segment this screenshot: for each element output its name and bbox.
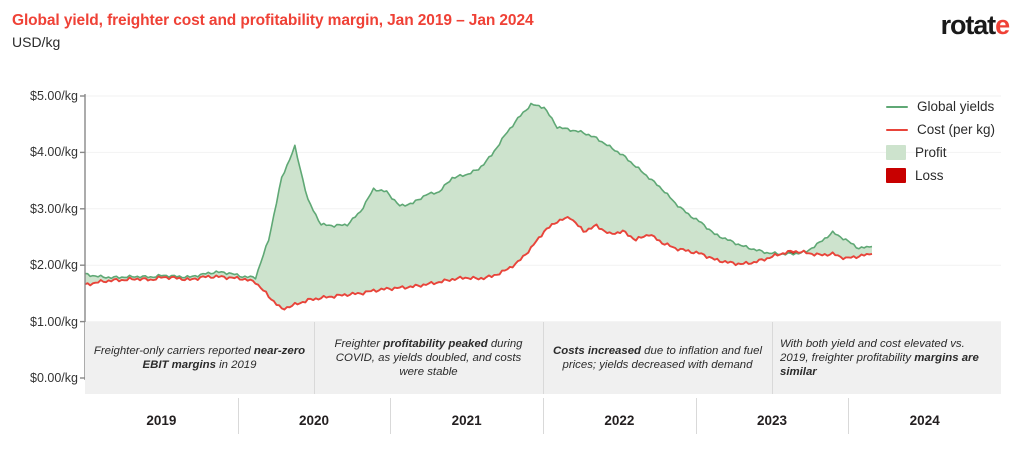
x-tick-label: 2024 bbox=[910, 413, 940, 428]
annotation-fragment: Freighter-only carriers reported bbox=[94, 345, 254, 357]
legend-box-swatch bbox=[886, 145, 906, 160]
x-tick-label: 2019 bbox=[146, 413, 176, 428]
legend-label: Loss bbox=[915, 168, 944, 183]
x-axis-tick: 2020 bbox=[238, 394, 391, 446]
annotation-fragment: in 2019 bbox=[216, 359, 257, 371]
legend-item[interactable]: Profit bbox=[886, 145, 995, 160]
x-axis-divider bbox=[543, 398, 544, 434]
legend-label: Global yields bbox=[917, 99, 994, 114]
x-axis-divider bbox=[848, 398, 849, 434]
chart-page: Global yield, freighter cost and profita… bbox=[0, 0, 1025, 446]
x-axis-tick: 2022 bbox=[543, 394, 696, 446]
annotation-cell: Costs increased due to inflation and fue… bbox=[543, 322, 772, 394]
annotation-text: Freighter profitability peaked during CO… bbox=[322, 337, 535, 380]
legend-item[interactable]: Global yields bbox=[886, 99, 995, 114]
x-tick-label: 2023 bbox=[757, 413, 787, 428]
y-axis-labels: $0.00/kg$1.00/kg$2.00/kg$3.00/kg$4.00/kg… bbox=[6, 0, 78, 446]
annotation-cell: Freighter-only carriers reported near-ze… bbox=[85, 322, 314, 394]
y-tick-label: $1.00/kg bbox=[6, 315, 78, 329]
legend-box-swatch bbox=[886, 168, 906, 183]
x-tick-label: 2022 bbox=[604, 413, 634, 428]
y-tick-label: $0.00/kg bbox=[6, 371, 78, 385]
y-tick-label: $4.00/kg bbox=[6, 145, 78, 159]
annotation-fragment: Freighter bbox=[334, 338, 383, 350]
x-axis-tick: 2024 bbox=[848, 394, 1001, 446]
y-tick-label: $3.00/kg bbox=[6, 202, 78, 216]
legend-item[interactable]: Cost (per kg) bbox=[886, 122, 995, 137]
x-axis-divider bbox=[238, 398, 239, 434]
x-axis-divider bbox=[390, 398, 391, 434]
y-tick-label: $2.00/kg bbox=[6, 258, 78, 272]
legend-item[interactable]: Loss bbox=[886, 168, 995, 183]
annotation-emphasis: Costs increased bbox=[553, 345, 641, 357]
x-axis: 201920202021202220232024 bbox=[85, 394, 1001, 446]
annotation-divider bbox=[543, 322, 544, 394]
x-axis-divider bbox=[696, 398, 697, 434]
legend-label: Profit bbox=[915, 145, 947, 160]
x-axis-tick: 2021 bbox=[390, 394, 543, 446]
annotation-divider bbox=[314, 322, 315, 394]
x-axis-tick: 2019 bbox=[85, 394, 238, 446]
x-tick-label: 2021 bbox=[452, 413, 482, 428]
annotation-cell: Freighter profitability peaked during CO… bbox=[314, 322, 543, 394]
annotation-cell: With both yield and cost elevated vs. 20… bbox=[772, 322, 1001, 394]
legend-line-swatch bbox=[886, 99, 908, 114]
x-tick-label: 2020 bbox=[299, 413, 329, 428]
legend-label: Cost (per kg) bbox=[917, 122, 995, 137]
annotation-band: Freighter-only carriers reported near-ze… bbox=[85, 322, 1001, 394]
annotation-text: Freighter-only carriers reported near-ze… bbox=[93, 344, 306, 372]
annotation-text: Costs increased due to inflation and fue… bbox=[551, 344, 764, 372]
annotation-text: With both yield and cost elevated vs. 20… bbox=[780, 337, 993, 380]
legend-line-swatch bbox=[886, 122, 908, 137]
y-tick-label: $5.00/kg bbox=[6, 89, 78, 103]
chart-legend: Global yieldsCost (per kg)ProfitLoss bbox=[886, 99, 995, 183]
x-axis-tick: 2023 bbox=[696, 394, 849, 446]
annotation-divider bbox=[772, 322, 773, 394]
annotation-emphasis: profitability peaked bbox=[383, 338, 487, 350]
